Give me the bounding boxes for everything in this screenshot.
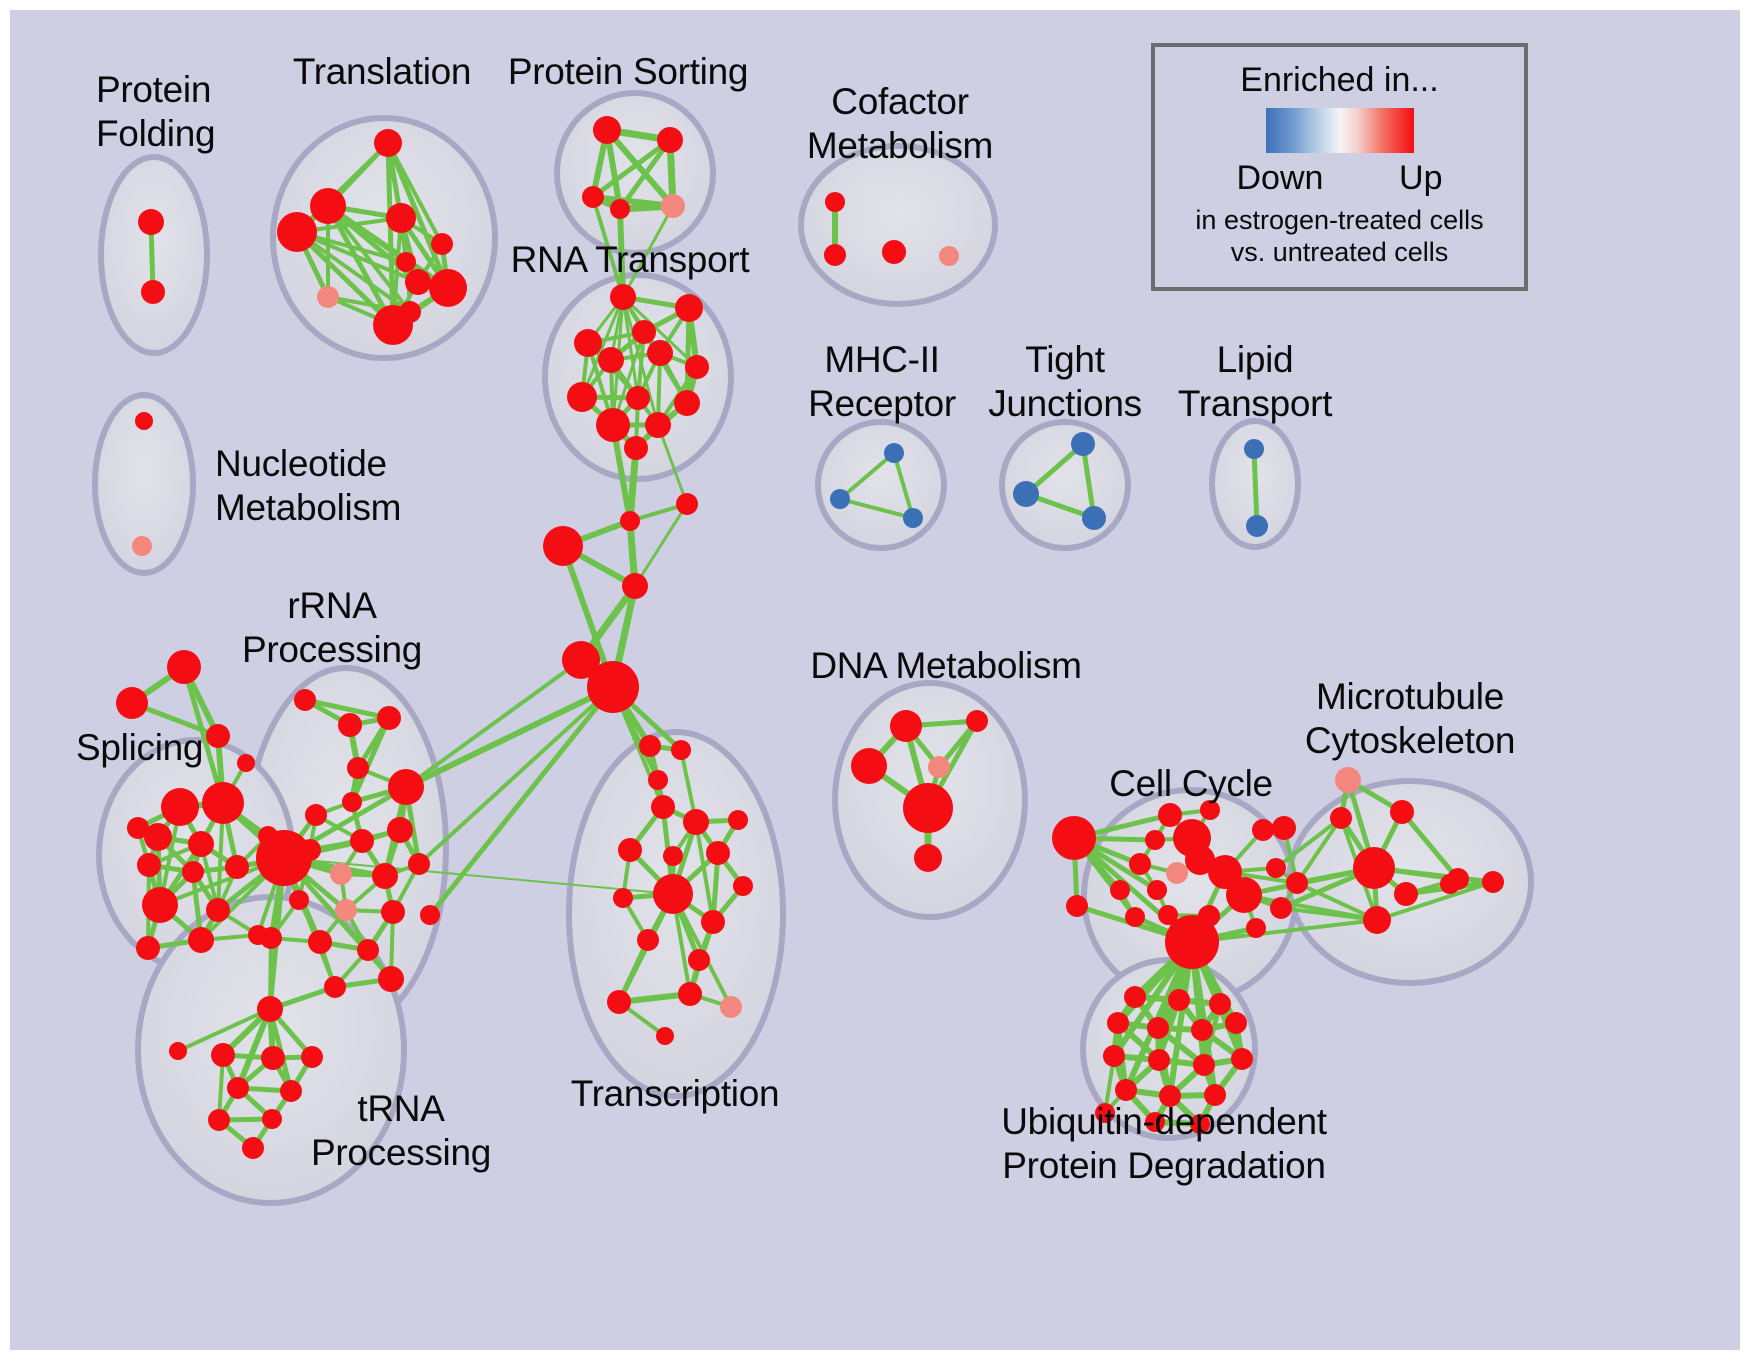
- network-node[interactable]: [357, 939, 379, 961]
- cluster-label-line: Tight: [988, 338, 1142, 382]
- network-node[interactable]: [1286, 872, 1308, 894]
- cluster-label-splicing: Splicing: [76, 726, 203, 770]
- network-node[interactable]: [1272, 816, 1296, 840]
- cluster-label-line: DNA Metabolism: [810, 644, 1081, 688]
- network-node[interactable]: [622, 573, 648, 599]
- network-node[interactable]: [1231, 1048, 1253, 1070]
- network-node[interactable]: [610, 199, 630, 219]
- network-node[interactable]: [1252, 819, 1274, 841]
- cluster-label-trna-processing: tRNAProcessing: [311, 1087, 491, 1175]
- cluster-label-line: Transcription: [571, 1072, 780, 1116]
- cluster-label-mhc-ii-receptor: MHC-IIReceptor: [808, 338, 956, 426]
- network-node[interactable]: [903, 783, 953, 833]
- network-node[interactable]: [1071, 432, 1095, 456]
- network-node[interactable]: [225, 855, 249, 879]
- network-node[interactable]: [429, 269, 467, 307]
- network-node[interactable]: [647, 340, 673, 366]
- network-node[interactable]: [1394, 882, 1418, 906]
- cluster-label-rrna-processing: rRNAProcessing: [242, 584, 422, 672]
- network-node[interactable]: [377, 706, 401, 730]
- legend-caption-line-2: vs. untreated cells: [1195, 236, 1483, 268]
- network-node[interactable]: [135, 412, 153, 430]
- network-node[interactable]: [1110, 880, 1130, 900]
- network-node[interactable]: [347, 757, 369, 779]
- network-node[interactable]: [656, 1027, 674, 1045]
- network-node[interactable]: [256, 830, 312, 886]
- cluster-label-line: Translation: [293, 50, 471, 94]
- cluster-label-line: MHC-II: [808, 338, 956, 382]
- legend-endpoint-labels: Down Up: [1237, 159, 1443, 198]
- network-node[interactable]: [543, 526, 583, 566]
- network-node[interactable]: [1145, 830, 1165, 850]
- network-node[interactable]: [308, 930, 332, 954]
- cluster-label-line: RNA Transport: [511, 238, 750, 282]
- network-node[interactable]: [882, 240, 906, 264]
- network-node[interactable]: [237, 754, 255, 772]
- cluster-label-line: Cofactor: [807, 80, 993, 124]
- network-node[interactable]: [596, 408, 630, 442]
- cluster-ellipse-protein-sorting: [557, 93, 713, 253]
- network-node[interactable]: [260, 927, 282, 949]
- cluster-label-line: Metabolism: [215, 486, 401, 530]
- network-node[interactable]: [851, 748, 887, 784]
- cluster-label-translation: Translation: [293, 50, 471, 94]
- network-node[interactable]: [294, 689, 316, 711]
- network-node[interactable]: [1440, 874, 1460, 894]
- legend-color-gradient-bar: [1266, 108, 1414, 153]
- network-node[interactable]: [262, 1109, 282, 1129]
- network-node[interactable]: [613, 888, 633, 908]
- network-node[interactable]: [1266, 858, 1286, 878]
- network-node[interactable]: [431, 233, 453, 255]
- network-node[interactable]: [1270, 897, 1292, 919]
- cluster-label-line: Processing: [242, 628, 422, 672]
- cluster-label-line: Processing: [311, 1131, 491, 1175]
- network-node[interactable]: [208, 1109, 230, 1131]
- cluster-label-line: Protein: [96, 68, 215, 112]
- enrichment-network-figure: ProteinFoldingTranslationProtein Sorting…: [0, 0, 1750, 1360]
- network-node[interactable]: [928, 756, 950, 778]
- network-node[interactable]: [405, 269, 431, 295]
- network-node[interactable]: [305, 804, 327, 826]
- legend-low-label: Down: [1237, 159, 1324, 198]
- cluster-label-line: Microtubule: [1305, 675, 1515, 719]
- network-node[interactable]: [141, 280, 165, 304]
- network-node[interactable]: [1193, 1054, 1215, 1076]
- network-node[interactable]: [396, 252, 416, 272]
- network-node[interactable]: [206, 898, 230, 922]
- network-node[interactable]: [824, 244, 846, 266]
- network-node[interactable]: [903, 508, 923, 528]
- cluster-label-ubiquitin-degradation: Ubiquitin-dependentProtein Degradation: [1001, 1100, 1327, 1188]
- network-node[interactable]: [138, 209, 164, 235]
- network-node[interactable]: [632, 320, 656, 344]
- cluster-label-line: Transport: [1178, 382, 1332, 426]
- network-node[interactable]: [728, 810, 748, 830]
- cluster-label-cell-cycle: Cell Cycle: [1109, 762, 1273, 806]
- network-edge: [406, 660, 581, 787]
- network-node[interactable]: [587, 661, 639, 713]
- cluster-label-rna-transport: RNA Transport: [511, 238, 750, 282]
- network-node[interactable]: [1082, 506, 1106, 530]
- network-node[interactable]: [574, 329, 602, 357]
- cluster-label-cofactor-metabolism: CofactorMetabolism: [807, 80, 993, 168]
- network-node[interactable]: [676, 493, 698, 515]
- legend-caption: in estrogen-treated cells vs. untreated …: [1195, 204, 1483, 268]
- network-node[interactable]: [663, 846, 683, 866]
- network-node[interactable]: [720, 996, 742, 1018]
- network-node[interactable]: [645, 412, 671, 438]
- network-node[interactable]: [567, 382, 597, 412]
- cluster-label-line: Nucleotide: [215, 442, 401, 486]
- cluster-ellipse-cofactor-metabolism: [801, 146, 995, 304]
- network-node[interactable]: [890, 710, 922, 742]
- cluster-label-line: Lipid: [1178, 338, 1332, 382]
- network-node[interactable]: [1353, 847, 1395, 889]
- network-node[interactable]: [350, 829, 374, 853]
- legend-high-label: Up: [1399, 159, 1442, 198]
- network-node[interactable]: [1165, 915, 1219, 969]
- cluster-label-tight-junctions: TightJunctions: [988, 338, 1142, 426]
- network-node[interactable]: [626, 386, 650, 410]
- network-node[interactable]: [261, 1046, 285, 1070]
- network-node[interactable]: [651, 795, 675, 819]
- cluster-label-line: Cell Cycle: [1109, 762, 1273, 806]
- network-node[interactable]: [1335, 767, 1361, 793]
- cluster-label-dna-metabolism: DNA Metabolism: [810, 644, 1081, 688]
- network-edge: [406, 687, 613, 787]
- network-node[interactable]: [335, 899, 357, 921]
- network-node[interactable]: [1166, 862, 1188, 884]
- cluster-label-line: Receptor: [808, 382, 956, 426]
- network-node[interactable]: [206, 724, 230, 748]
- cluster-label-line: tRNA: [311, 1087, 491, 1131]
- network-node[interactable]: [132, 536, 152, 556]
- network-node[interactable]: [202, 782, 244, 824]
- legend-caption-line-1: in estrogen-treated cells: [1195, 204, 1483, 236]
- network-node[interactable]: [408, 853, 430, 875]
- network-node[interactable]: [639, 735, 661, 757]
- cluster-label-protein-folding: ProteinFolding: [96, 68, 215, 156]
- legend-title: Enriched in...: [1240, 61, 1438, 100]
- network-node[interactable]: [683, 809, 709, 835]
- network-edge: [1254, 449, 1257, 526]
- cluster-label-nucleotide-metabolism: NucleotideMetabolism: [215, 442, 401, 530]
- network-node[interactable]: [280, 1080, 302, 1102]
- network-node[interactable]: [386, 203, 416, 233]
- network-node[interactable]: [372, 863, 398, 889]
- network-node[interactable]: [671, 740, 691, 760]
- network-node[interactable]: [674, 390, 700, 416]
- network-node[interactable]: [661, 194, 685, 218]
- cluster-label-line: Protein Sorting: [508, 50, 748, 94]
- network-node[interactable]: [182, 861, 204, 883]
- network-node[interactable]: [310, 188, 346, 224]
- legend-box: Enriched in... Down Up in estrogen-treat…: [1151, 43, 1528, 291]
- network-node[interactable]: [657, 127, 683, 153]
- network-node[interactable]: [1115, 1079, 1137, 1101]
- network-node[interactable]: [598, 347, 624, 373]
- network-node[interactable]: [1209, 993, 1231, 1015]
- network-node[interactable]: [1124, 986, 1146, 1008]
- network-node[interactable]: [137, 853, 161, 877]
- network-node[interactable]: [648, 770, 668, 790]
- network-node[interactable]: [1191, 1019, 1213, 1041]
- network-node[interactable]: [116, 687, 148, 719]
- network-node[interactable]: [169, 1042, 187, 1060]
- network-node[interactable]: [1246, 515, 1268, 537]
- network-node[interactable]: [1147, 880, 1167, 900]
- network-node[interactable]: [1107, 1012, 1129, 1034]
- cluster-label-lipid-transport: LipidTransport: [1178, 338, 1332, 426]
- network-node[interactable]: [378, 966, 404, 992]
- network-node[interactable]: [624, 436, 648, 460]
- network-node[interactable]: [1148, 1049, 1170, 1071]
- network-node[interactable]: [338, 713, 362, 737]
- network-node[interactable]: [618, 838, 642, 862]
- network-node[interactable]: [324, 976, 346, 998]
- network-node[interactable]: [1226, 877, 1262, 913]
- network-node[interactable]: [387, 817, 413, 843]
- network-node[interactable]: [1168, 989, 1190, 1011]
- network-node[interactable]: [701, 910, 725, 934]
- network-node[interactable]: [330, 863, 352, 885]
- network-node[interactable]: [1390, 800, 1414, 824]
- network-node[interactable]: [227, 1077, 249, 1099]
- cluster-label-line: rRNA: [242, 584, 422, 628]
- network-node[interactable]: [188, 831, 214, 857]
- network-node[interactable]: [257, 996, 283, 1022]
- network-node[interactable]: [188, 927, 214, 953]
- network-node[interactable]: [1158, 803, 1182, 827]
- network-node[interactable]: [301, 1046, 323, 1068]
- cluster-label-line: Ubiquitin-dependent: [1001, 1100, 1327, 1144]
- cluster-label-line: Cytoskeleton: [1305, 719, 1515, 763]
- cluster-label-microtubule-cytoskeleton: MicrotubuleCytoskeleton: [1305, 675, 1515, 763]
- network-node[interactable]: [1330, 807, 1352, 829]
- network-node[interactable]: [1125, 907, 1145, 927]
- cluster-label-transcription: Transcription: [571, 1072, 780, 1116]
- network-node[interactable]: [607, 990, 631, 1014]
- network-node[interactable]: [688, 949, 710, 971]
- network-node[interactable]: [966, 710, 988, 732]
- network-node[interactable]: [620, 511, 640, 531]
- cluster-label-line: Folding: [96, 112, 215, 156]
- network-node[interactable]: [884, 443, 904, 463]
- network-node[interactable]: [211, 1043, 235, 1067]
- network-node[interactable]: [1103, 1045, 1125, 1067]
- network-node[interactable]: [675, 294, 703, 322]
- network-node[interactable]: [939, 246, 959, 266]
- network-node[interactable]: [161, 788, 199, 826]
- network-node[interactable]: [1147, 1017, 1169, 1039]
- network-node[interactable]: [242, 1137, 264, 1159]
- network-node[interactable]: [1246, 918, 1266, 938]
- network-node[interactable]: [317, 286, 339, 308]
- cluster-label-line: Protein Degradation: [1001, 1144, 1327, 1188]
- cluster-label-line: Junctions: [988, 382, 1142, 426]
- cluster-label-line: Metabolism: [807, 124, 993, 168]
- network-node[interactable]: [830, 489, 850, 509]
- network-node[interactable]: [685, 355, 709, 379]
- network-node[interactable]: [706, 841, 730, 865]
- network-node[interactable]: [127, 817, 149, 839]
- network-node[interactable]: [373, 305, 413, 345]
- cluster-label-line: Splicing: [76, 726, 203, 770]
- network-node[interactable]: [1013, 481, 1039, 507]
- network-node[interactable]: [653, 874, 693, 914]
- network-node[interactable]: [678, 982, 702, 1006]
- network-node[interactable]: [374, 129, 402, 157]
- network-node[interactable]: [1066, 895, 1088, 917]
- network-node[interactable]: [582, 186, 604, 208]
- network-node[interactable]: [388, 769, 424, 805]
- network-node[interactable]: [825, 192, 845, 212]
- network-node[interactable]: [167, 650, 201, 684]
- cluster-ellipse-mhc-ii-receptor: [818, 422, 944, 548]
- network-node[interactable]: [637, 929, 659, 951]
- network-node[interactable]: [593, 116, 621, 144]
- cluster-label-protein-sorting: Protein Sorting: [508, 50, 748, 94]
- network-node[interactable]: [142, 887, 178, 923]
- network-node[interactable]: [1482, 871, 1504, 893]
- network-node[interactable]: [914, 844, 942, 872]
- network-node[interactable]: [342, 792, 362, 812]
- network-node[interactable]: [381, 900, 405, 924]
- network-node[interactable]: [1225, 1012, 1247, 1034]
- network-node[interactable]: [420, 905, 440, 925]
- network-node[interactable]: [610, 284, 636, 310]
- network-node[interactable]: [277, 212, 317, 252]
- network-node[interactable]: [136, 936, 160, 960]
- network-node[interactable]: [1129, 853, 1151, 875]
- network-node[interactable]: [1052, 816, 1096, 860]
- network-node[interactable]: [1363, 906, 1391, 934]
- network-node[interactable]: [1244, 439, 1264, 459]
- network-node[interactable]: [289, 890, 309, 910]
- network-node[interactable]: [733, 876, 753, 896]
